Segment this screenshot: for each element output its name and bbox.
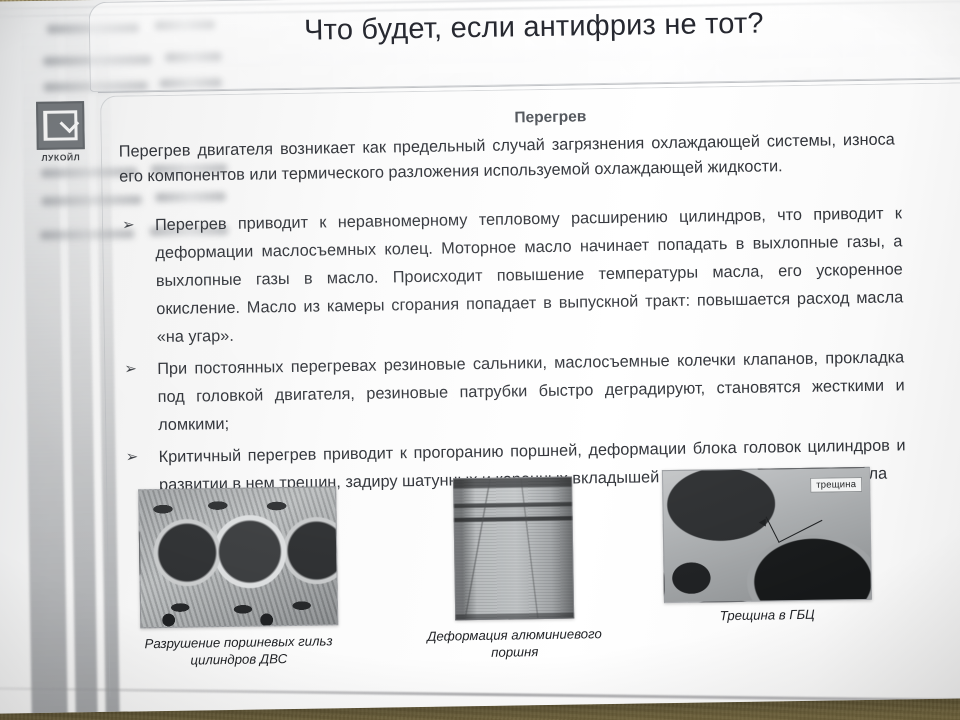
figure-caption: Разрушение поршневых гильз цилиндров ДВС <box>140 632 337 669</box>
piston-photo <box>453 477 574 621</box>
bullet-arrow-icon: ➢ <box>122 211 135 239</box>
figure-caption: Трещина в ГБЦ <box>664 605 870 625</box>
figure-cylinder-head: трещина Трещина в ГБЦ <box>662 467 872 625</box>
lukoil-mark-icon <box>36 101 85 150</box>
list-item: ➢ При постоянных перегревах резиновые са… <box>122 343 905 439</box>
photo-of-printed-slide: Что будет, если антифриз не тот? ЛУКОЙЛ … <box>0 0 960 720</box>
bullet-arrow-icon: ➢ <box>125 443 138 471</box>
crack-arrow-icon <box>759 519 766 527</box>
lukoil-glyph-icon <box>43 110 77 141</box>
bullet-arrow-icon: ➢ <box>124 355 137 383</box>
crack-annotation-label: трещина <box>810 477 862 493</box>
lukoil-logo: ЛУКОЙЛ <box>32 101 89 163</box>
figure-engine-block: Разрушение поршневых гильз цилиндров ДВС <box>138 486 339 669</box>
lukoil-wordmark: ЛУКОЙЛ <box>33 152 89 163</box>
bullet-list: ➢ Перегрев приводит к неравномерному теп… <box>120 199 906 503</box>
crack-leader-line <box>766 495 823 543</box>
figure-caption: Деформация алюминиевого поршня <box>409 625 620 662</box>
printed-paper-sheet: Что будет, если антифриз не тот? ЛУКОЙЛ … <box>0 0 960 714</box>
list-item-text: При постоянных перегревах резиновые саль… <box>157 348 905 434</box>
cylinder-head-photo: трещина <box>662 467 872 603</box>
list-item: ➢ Перегрев приводит к неравномерному теп… <box>120 199 904 351</box>
list-item-text: Перегрев приводит к неравномерному тепло… <box>155 204 904 346</box>
engine-block-photo <box>138 486 338 628</box>
figure-piston: Деформация алюминиевого поршня <box>453 476 620 662</box>
slide-content: Что будет, если антифриз не тот? ЛУКОЙЛ … <box>0 0 960 714</box>
